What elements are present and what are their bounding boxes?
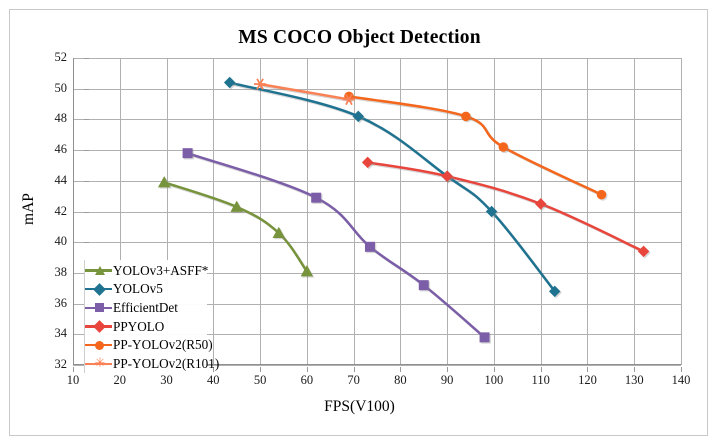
x-tick-mark	[354, 367, 355, 372]
legend-item[interactable]: PP-YOLOv2(R50)	[85, 336, 207, 355]
legend-item[interactable]: YOLOv5	[85, 280, 207, 299]
y-tick-label: 50	[33, 82, 67, 95]
y-tick-label: 42	[33, 205, 67, 218]
y-tick-label: 32	[33, 358, 67, 371]
x-tick-mark	[307, 367, 308, 372]
x-tick-label: 40	[193, 374, 233, 387]
x-tick-mark	[447, 367, 448, 372]
legend-item[interactable]: ✳PP-YOLOv2(R101)	[85, 354, 207, 373]
x-tick-mark	[681, 367, 682, 372]
x-tick-mark	[541, 367, 542, 372]
legend-item[interactable]: YOLOv3+ASFF*	[85, 261, 207, 280]
x-tick-mark	[634, 367, 635, 372]
legend-item-label: YOLOv5	[113, 282, 163, 295]
y-tick-mark	[84, 212, 89, 213]
y-tick-label: 36	[33, 297, 67, 310]
x-tick-label: 90	[427, 374, 467, 387]
x-tick-label: 140	[661, 374, 701, 387]
x-tick-label: 120	[567, 374, 607, 387]
chart-frame: MS COCO Object Detection 323436384042444…	[9, 9, 708, 436]
x-tick-label: 70	[334, 374, 374, 387]
y-tick-label: 40	[33, 235, 67, 248]
x-tick-label: 50	[240, 374, 280, 387]
x-tick-label: 80	[380, 374, 420, 387]
x-tick-label: 30	[147, 374, 187, 387]
chart-legend: YOLOv3+ASFF*YOLOv5EfficientDetPPYOLOPP-Y…	[84, 260, 207, 373]
series-3	[362, 157, 651, 259]
x-tick-mark	[260, 367, 261, 372]
legend-item[interactable]: EfficientDet	[85, 298, 207, 317]
y-axis-title: mAP	[20, 174, 38, 244]
y-tick-mark	[84, 119, 89, 120]
legend-item-label: EfficientDet	[113, 301, 178, 314]
x-tick-label: 60	[287, 374, 327, 387]
y-tick-label: 46	[33, 143, 67, 156]
y-tick-mark	[84, 181, 89, 182]
y-tick-mark	[84, 58, 89, 59]
x-tick-mark	[587, 367, 588, 372]
x-tick-label: 100	[474, 374, 514, 387]
y-tick-mark	[84, 89, 89, 90]
legend-item-label: PP-YOLOv2(R101)	[113, 357, 219, 370]
x-tick-mark	[73, 367, 74, 372]
y-tick-label: 48	[33, 112, 67, 125]
legend-marker-icon: ✳	[85, 357, 112, 371]
legend-marker-icon	[85, 338, 112, 352]
x-tick-label: 10	[53, 374, 93, 387]
x-axis-title: FPS(V100)	[10, 398, 708, 416]
x-tick-mark	[400, 367, 401, 372]
y-tick-mark	[84, 150, 89, 151]
x-tick-label: 130	[614, 374, 654, 387]
x-tick-label: 20	[100, 374, 140, 387]
y-tick-label: 38	[33, 266, 67, 279]
legend-item-label: PP-YOLOv2(R50)	[113, 338, 213, 351]
legend-marker-icon	[85, 319, 112, 333]
legend-item-label: YOLOv3+ASFF*	[113, 264, 208, 277]
x-tick-label: 110	[521, 374, 561, 387]
y-tick-label: 44	[33, 174, 67, 187]
x-tick-mark	[494, 367, 495, 372]
y-tick-mark	[84, 242, 89, 243]
legend-item[interactable]: PPYOLO	[85, 317, 207, 336]
chart-title: MS COCO Object Detection	[10, 27, 708, 49]
legend-marker-icon	[85, 263, 112, 277]
legend-marker-icon	[85, 282, 112, 296]
legend-marker-icon	[85, 301, 112, 315]
y-tick-label: 34	[33, 327, 67, 340]
y-tick-label: 52	[33, 51, 67, 64]
legend-item-label: PPYOLO	[113, 320, 164, 333]
